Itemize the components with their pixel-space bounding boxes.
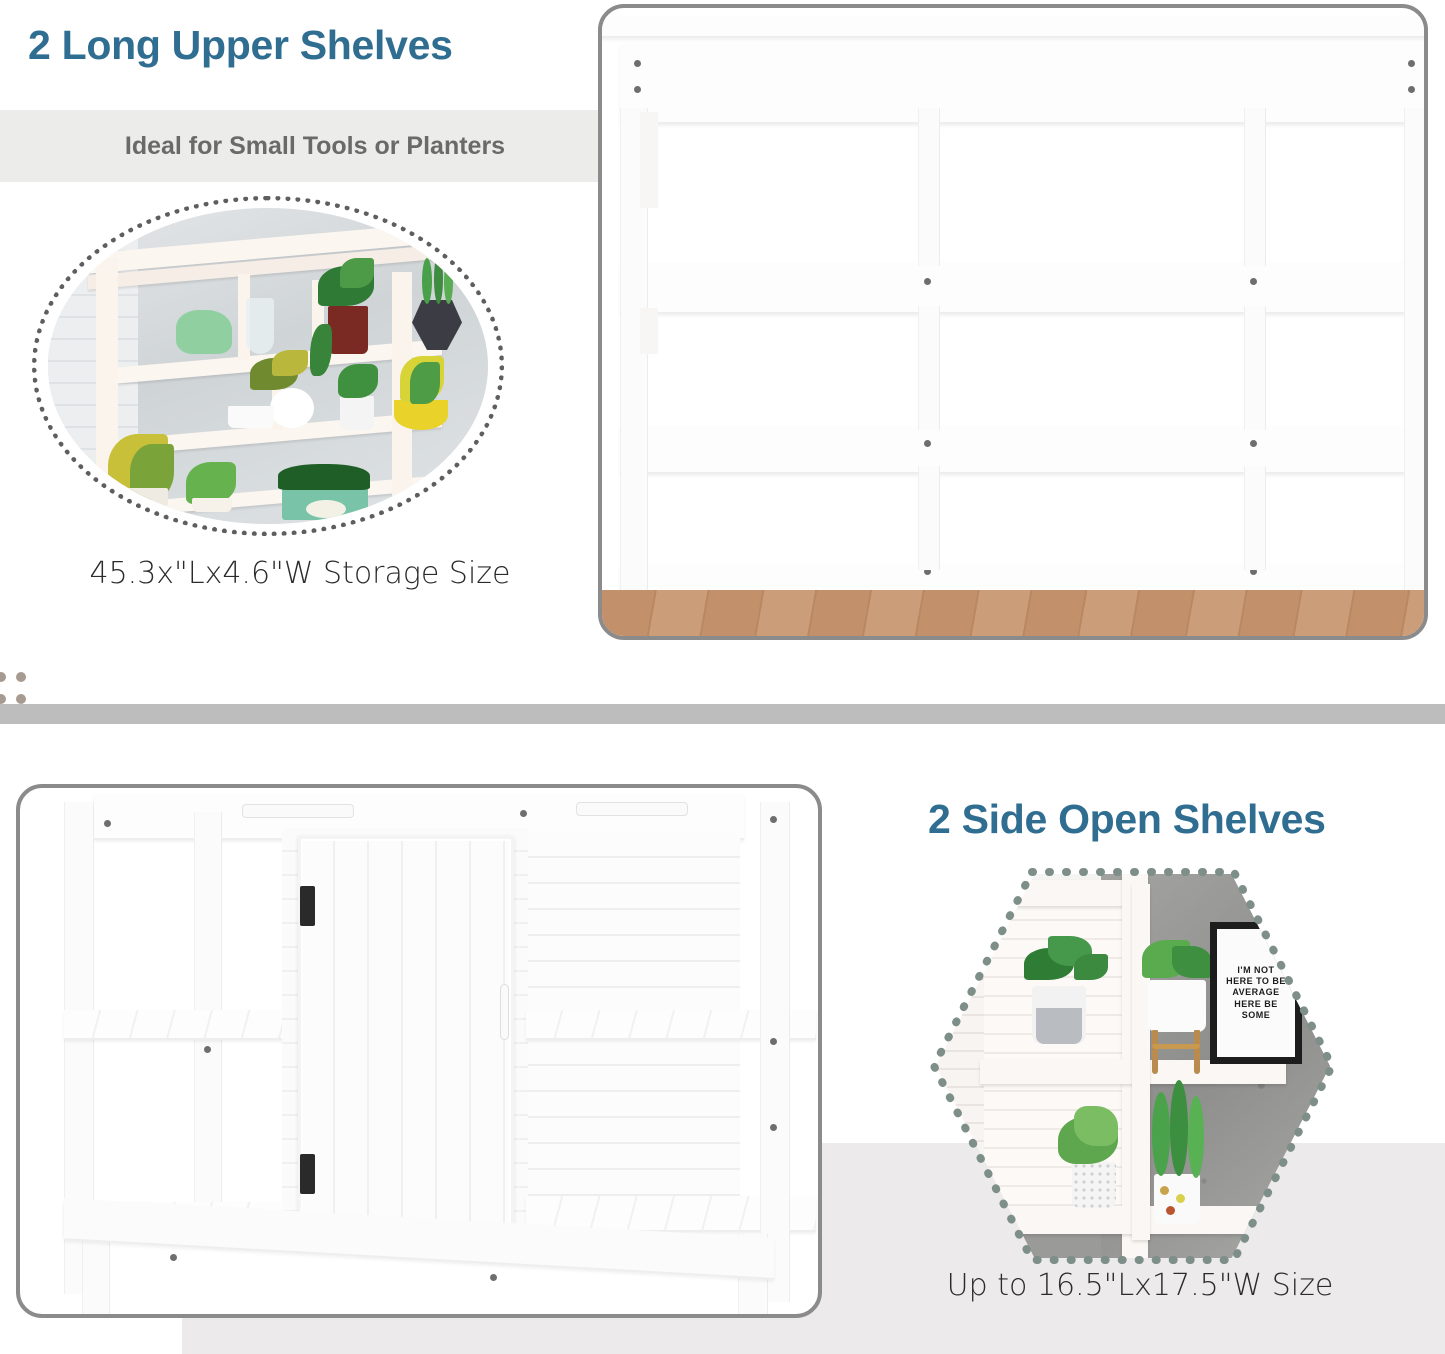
sign-line-1: I'M NOT — [1226, 965, 1286, 976]
oval-inset — [32, 196, 504, 536]
top-subtitle: Ideal for Small Tools or Planters — [0, 110, 622, 182]
hexagon-inset: I'M NOT HERE TO BE AVERAGE HERE BE SOME — [928, 866, 1338, 1266]
infographic-page: 2 Long Upper Shelves Ideal for Small Too… — [0, 0, 1445, 1354]
sign-line-2: HERE TO BE — [1226, 976, 1286, 987]
top-caption: 45.3x"Lx4.6"W Storage Size — [0, 556, 600, 591]
bottom-caption: Up to 16.5"Lx17.5"W Size — [880, 1268, 1400, 1303]
top-section: 2 Long Upper Shelves Ideal for Small Too… — [0, 0, 1445, 704]
hinge-top — [300, 886, 315, 926]
hex-shelf-unit: I'M NOT HERE TO BE AVERAGE HERE BE SOME — [936, 874, 1330, 1258]
top-product-photo — [598, 4, 1428, 640]
bottom-product-photo — [16, 784, 822, 1318]
hinge-bottom — [300, 1154, 315, 1194]
oval-dotted-border — [32, 196, 504, 536]
subtitle-band: Ideal for Small Tools or Planters — [0, 110, 622, 182]
section-divider — [0, 704, 1445, 724]
framed-sign: I'M NOT HERE TO BE AVERAGE HERE BE SOME — [1210, 922, 1302, 1064]
decorative-dots — [0, 672, 36, 708]
top-heading: 2 Long Upper Shelves — [28, 22, 453, 69]
hexagon-inset-photo: I'M NOT HERE TO BE AVERAGE HERE BE SOME — [936, 874, 1330, 1258]
sign-line-5: SOME — [1226, 1010, 1286, 1021]
door-handle — [500, 984, 509, 1040]
top-product-stage — [602, 8, 1424, 636]
sign-line-4: HERE BE — [1226, 999, 1286, 1010]
wood-floor — [602, 590, 1424, 636]
bottom-product-stage — [20, 788, 818, 1314]
bottom-heading: 2 Side Open Shelves — [928, 796, 1326, 843]
sign-line-3: AVERAGE — [1226, 987, 1286, 998]
